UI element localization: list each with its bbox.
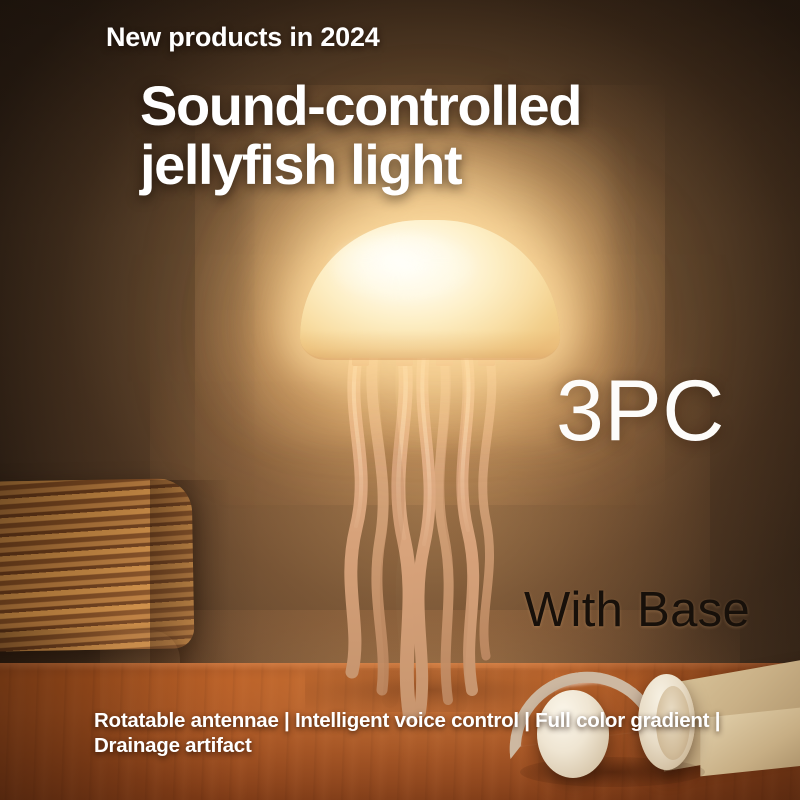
- product-poster: New products in 2024 Sound-controlled je…: [0, 0, 800, 800]
- quantity-badge: 3PC: [556, 368, 725, 454]
- base-badge: With Base: [524, 586, 750, 635]
- feature-list-text: Rotatable antennae | Intelligent voice c…: [94, 708, 746, 758]
- lamp-shadow-on-desk: [305, 668, 555, 712]
- kicker-text: New products in 2024: [106, 22, 380, 53]
- page-title: Sound-controlled jellyfish light: [140, 76, 760, 195]
